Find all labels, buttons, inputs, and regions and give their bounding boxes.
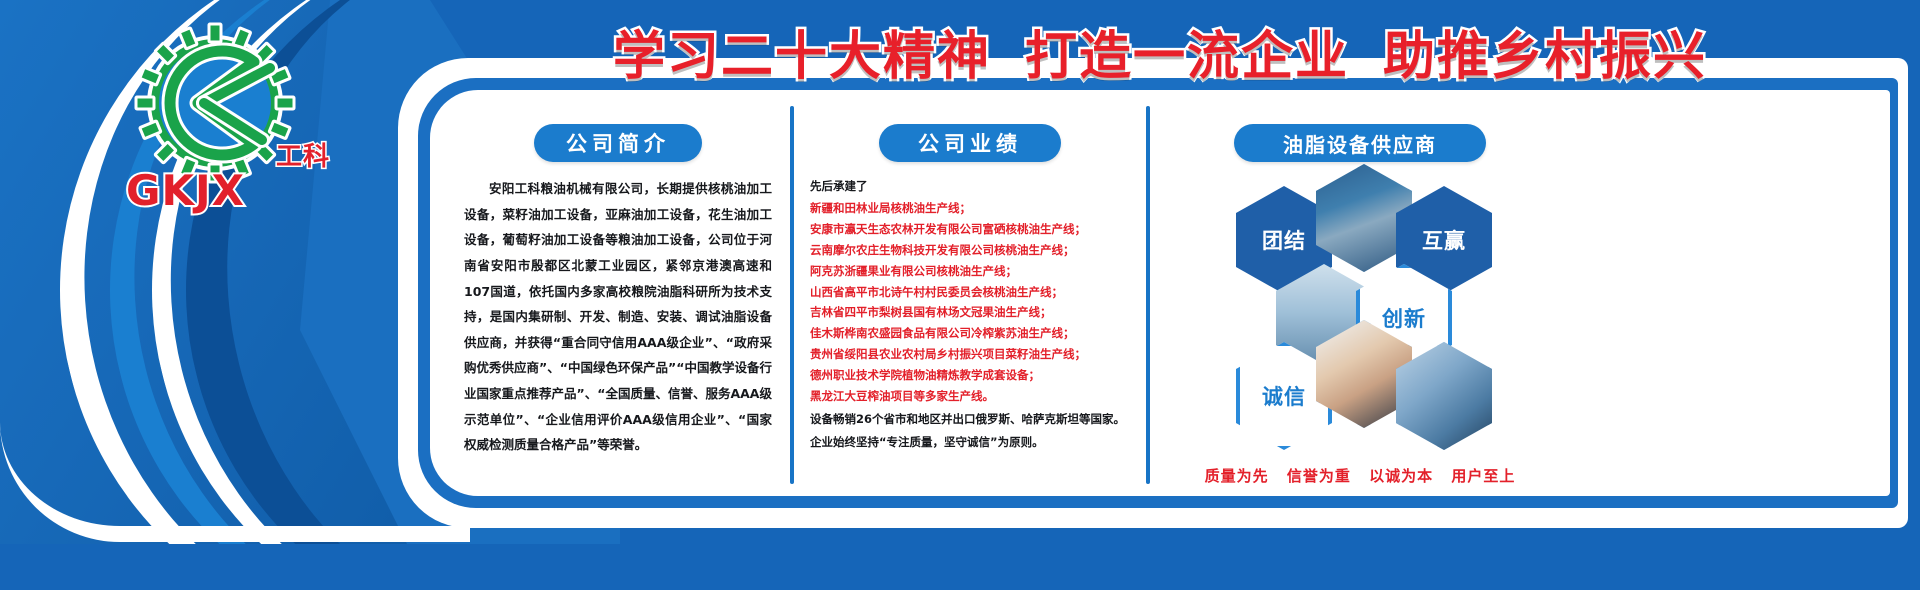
performance-tail-line-1: 设备畅销26个省市和地区并出口俄罗斯、哈萨克斯坦等国家。 xyxy=(808,409,1132,430)
list-item: 阿克苏浙疆果业有限公司核桃油生产线； xyxy=(810,261,1132,282)
gear-logo-icon xyxy=(134,22,296,184)
hex-mutual-win-label: 互赢 xyxy=(1422,225,1466,255)
list-item: 山西省高平市北诗午村村民委员会核桃油生产线； xyxy=(810,282,1132,303)
bottom-blue-strip xyxy=(0,544,1920,590)
bottom-white-curve xyxy=(0,422,470,542)
hex-integrity-label: 诚信 xyxy=(1262,381,1306,411)
slogan-part-2: 信誉为重 xyxy=(1287,467,1351,485)
performance-tail-line-2: 企业始终坚持“专注质量，坚守诚信”为原则。 xyxy=(808,432,1132,453)
list-item: 云南摩尔农庄生物科技开发有限公司核桃油生产线； xyxy=(810,240,1132,261)
company-logo: 工科 GKJX xyxy=(112,22,322,217)
performance-lead-text: 先后承建了 xyxy=(808,176,1132,198)
supplier-slogan: 质量为先 信誉为重 以诚为本 用户至上 xyxy=(1150,465,1570,486)
hex-innovation-label: 创新 xyxy=(1382,303,1426,333)
profile-title-pill: 公司简介 xyxy=(534,124,702,162)
list-item: 吉林省四平市梨树县国有林场文冠果油生产线； xyxy=(810,302,1132,323)
list-item: 贵州省绥阳县农业农村局乡村振兴项目菜籽油生产线； xyxy=(810,344,1132,365)
list-item: 安康市瀛天生态农林开发有限公司富硒核桃油生产线； xyxy=(810,219,1132,240)
poster-canvas: 学习二十大精神 打造一流企业 助推乡村振兴 xyxy=(0,0,1920,590)
hex-unity-label: 团结 xyxy=(1262,225,1306,255)
column-company-profile: 公司简介 安阳工科粮油机械有限公司，长期提供核桃油加工设备，菜籽油加工设备，亚麻… xyxy=(446,100,790,492)
list-item: 德州职业技术学院植物油精炼教学成套设备； xyxy=(810,365,1132,386)
column-company-performance: 公司业绩 先后承建了 新疆和田林业局核桃油生产线； 安康市瀛天生态农林开发有限公… xyxy=(794,100,1146,492)
logo-chinese-name: 工科 xyxy=(276,136,330,173)
list-item: 新疆和田林业局核桃油生产线； xyxy=(810,198,1132,219)
slogan-part-1: 质量为先 xyxy=(1205,467,1269,485)
logo-latin-name: GKJX xyxy=(126,166,245,215)
performance-project-list: 新疆和田林业局核桃油生产线； 安康市瀛天生态农林开发有限公司富硒核桃油生产线； … xyxy=(808,198,1132,407)
content-columns: 公司简介 安阳工科粮油机械有限公司，长期提供核桃油加工设备，菜籽油加工设备，亚麻… xyxy=(446,100,1886,492)
slogan-part-4: 用户至上 xyxy=(1451,467,1515,485)
list-item: 佳木斯桦南农盛园食品有限公司冷榨紫苏油生产线； xyxy=(810,323,1132,344)
hexagon-cluster: 团结 互赢 创新 诚信 xyxy=(1164,176,1556,414)
profile-body-text: 安阳工科粮油机械有限公司，长期提供核桃油加工设备，菜籽油加工设备，亚麻油加工设备… xyxy=(460,176,776,458)
list-item: 黑龙江大豆榨油项目等多家生产线。 xyxy=(810,386,1132,407)
supplier-title-pill: 油脂设备供应商 xyxy=(1234,124,1486,162)
slogan-part-3: 以诚为本 xyxy=(1369,467,1433,485)
performance-title-pill: 公司业绩 xyxy=(879,124,1061,162)
column-supplier: 油脂设备供应商 团结 互赢 创新 诚信 xyxy=(1150,100,1570,492)
